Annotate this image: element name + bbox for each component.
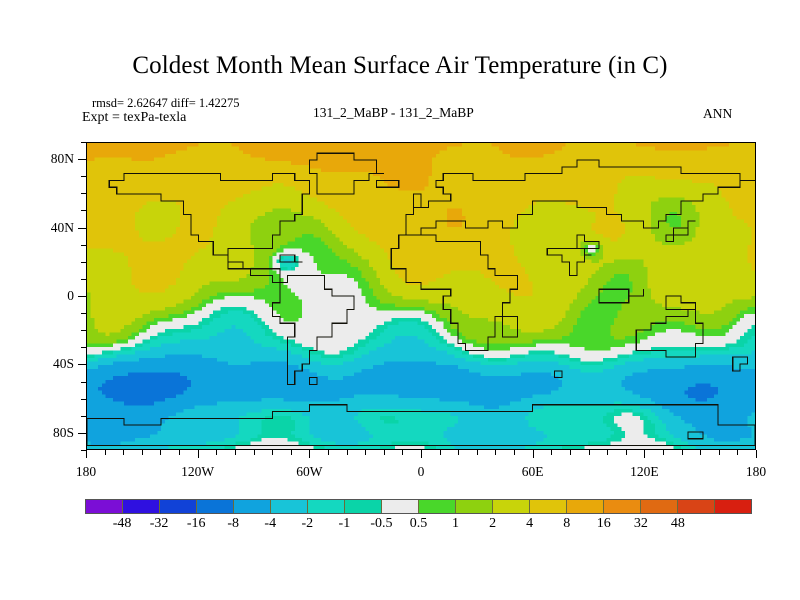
y-tick	[81, 347, 86, 348]
x-tick	[216, 450, 217, 455]
y-tick	[78, 159, 86, 160]
colorbar-cell	[530, 500, 567, 513]
x-tick	[142, 450, 143, 455]
y-tick	[78, 296, 86, 297]
case-label: 131_2_MaBP - 131_2_MaBP	[313, 105, 474, 121]
y-axis-label: 80S	[22, 425, 74, 441]
x-tick	[644, 450, 645, 458]
season-label: ANN	[703, 106, 732, 122]
colorbar-cell	[345, 500, 382, 513]
rmsd-label: rmsd= 2.62647 diff= 1.42275	[92, 96, 240, 111]
colorbar-cell	[604, 500, 641, 513]
y-tick	[81, 382, 86, 383]
x-axis-label: 60W	[296, 464, 322, 480]
y-tick	[81, 210, 86, 211]
x-tick	[309, 450, 310, 458]
colorbar-tick: -32	[150, 516, 169, 532]
x-axis-label: 60E	[522, 464, 544, 480]
expt-label: Expt = texPa-texla	[82, 110, 186, 126]
map-plot-area	[86, 142, 756, 450]
colorbar	[85, 499, 752, 514]
y-tick	[81, 279, 86, 280]
y-axis-label: 0	[22, 288, 74, 304]
colorbar-tick: -0.5	[370, 516, 392, 532]
x-tick	[682, 450, 683, 455]
colorbar-cell	[715, 500, 751, 513]
colorbar-cell	[567, 500, 604, 513]
colorbar-cell	[419, 500, 456, 513]
y-tick	[81, 416, 86, 417]
x-tick	[384, 450, 385, 455]
y-axis-label: 40N	[22, 220, 74, 236]
x-tick	[347, 450, 348, 455]
colorbar-cell	[382, 500, 419, 513]
colorbar-tick: 1	[452, 516, 459, 532]
colorbar-tick: 48	[671, 516, 685, 532]
page-title: Coldest Month Mean Surface Air Temperatu…	[0, 52, 800, 80]
coastline-overlay	[87, 143, 755, 449]
x-tick	[607, 450, 608, 455]
x-tick	[105, 450, 106, 455]
y-tick	[81, 450, 86, 451]
colorbar-tick: 0.5	[410, 516, 428, 532]
colorbar-tick: -1	[339, 516, 351, 532]
x-tick	[495, 450, 496, 455]
colorbar-tick: 8	[563, 516, 570, 532]
y-axis-label: 40S	[22, 356, 74, 372]
y-tick	[78, 364, 86, 365]
x-tick	[663, 450, 664, 455]
colorbar-cell	[641, 500, 678, 513]
y-tick	[81, 330, 86, 331]
x-axis-label: 0	[418, 464, 425, 480]
x-tick	[514, 450, 515, 455]
x-tick	[365, 450, 366, 455]
x-tick	[570, 450, 571, 455]
figure-root: Coldest Month Mean Surface Air Temperatu…	[0, 0, 800, 600]
x-tick	[589, 450, 590, 455]
x-tick	[291, 450, 292, 455]
x-tick	[421, 450, 422, 458]
x-tick	[737, 450, 738, 455]
x-tick	[86, 450, 87, 458]
colorbar-tick: 4	[526, 516, 533, 532]
x-tick	[458, 450, 459, 455]
x-tick	[254, 450, 255, 455]
y-tick	[81, 142, 86, 143]
x-tick	[440, 450, 441, 455]
colorbar-tick: -16	[187, 516, 206, 532]
colorbar-tick: -2	[301, 516, 313, 532]
colorbar-tick: 32	[634, 516, 648, 532]
y-tick	[78, 228, 86, 229]
x-tick	[402, 450, 403, 455]
y-axis-label: 80N	[22, 151, 74, 167]
x-tick	[551, 450, 552, 455]
y-tick	[81, 262, 86, 263]
colorbar-tick-labels: -48-32-16-8-4-2-1-0.50.51248163248	[85, 516, 752, 536]
x-tick	[533, 450, 534, 458]
colorbar-cell	[271, 500, 308, 513]
colorbar-cell	[197, 500, 234, 513]
colorbar-cell	[493, 500, 530, 513]
x-tick	[700, 450, 701, 455]
y-tick	[78, 433, 86, 434]
x-axis-label: 120W	[181, 464, 214, 480]
x-tick	[198, 450, 199, 458]
x-tick	[272, 450, 273, 455]
colorbar-tick: 16	[597, 516, 611, 532]
colorbar-cell	[308, 500, 345, 513]
x-tick	[626, 450, 627, 455]
x-axis-label: 180	[76, 464, 96, 480]
colorbar-tick: -4	[264, 516, 276, 532]
x-tick	[477, 450, 478, 455]
colorbar-cell	[678, 500, 715, 513]
y-tick	[81, 245, 86, 246]
colorbar-tick: -48	[113, 516, 132, 532]
colorbar-cell	[456, 500, 493, 513]
colorbar-tick: -8	[227, 516, 239, 532]
x-tick	[719, 450, 720, 455]
x-tick	[123, 450, 124, 455]
colorbar-cell	[123, 500, 160, 513]
colorbar-cell	[234, 500, 271, 513]
x-tick	[328, 450, 329, 455]
colorbar-cell	[86, 500, 123, 513]
x-tick	[160, 450, 161, 455]
x-tick	[179, 450, 180, 455]
y-tick	[81, 176, 86, 177]
colorbar-cell	[160, 500, 197, 513]
y-tick	[81, 313, 86, 314]
y-tick	[81, 399, 86, 400]
x-axis-label: 180	[746, 464, 766, 480]
y-tick	[81, 193, 86, 194]
x-axis-label: 120E	[630, 464, 659, 480]
colorbar-tick: 2	[489, 516, 496, 532]
x-tick	[756, 450, 757, 458]
x-tick	[235, 450, 236, 455]
